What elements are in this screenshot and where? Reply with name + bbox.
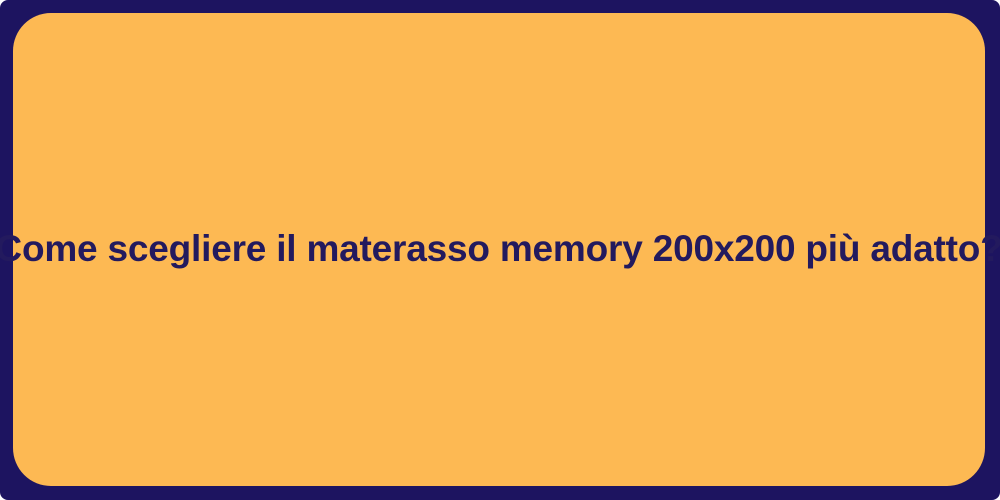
card-frame: Come scegliere il materasso memory 200x2… bbox=[0, 0, 1000, 500]
page-title: Come scegliere il materasso memory 200x2… bbox=[0, 226, 1000, 272]
card-panel: Come scegliere il materasso memory 200x2… bbox=[13, 13, 985, 486]
